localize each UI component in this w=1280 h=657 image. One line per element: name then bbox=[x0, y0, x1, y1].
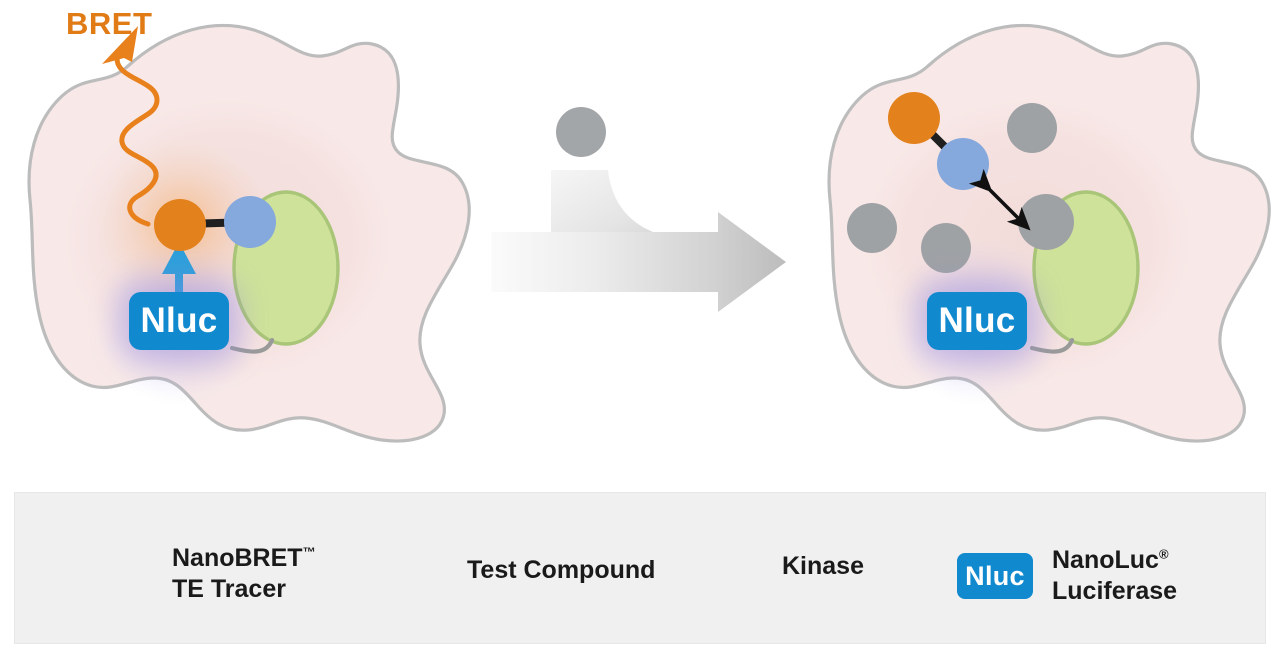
tracer-acceptor-left bbox=[224, 196, 276, 248]
trademark-icon: ™ bbox=[303, 545, 316, 560]
legend-compound-label: Test Compound bbox=[467, 555, 655, 586]
legend-tracer-line1: NanoBRET bbox=[172, 544, 303, 572]
legend-kinase-label: Kinase bbox=[782, 551, 864, 582]
test-compound bbox=[921, 223, 971, 273]
legend-item-test-compound: Test Compound bbox=[467, 555, 655, 586]
test-compound bbox=[1007, 103, 1057, 153]
legend-nanoluc-label: NanoLuc® Luciferase bbox=[1052, 545, 1177, 606]
bret-label: BRET bbox=[66, 6, 152, 42]
incoming-test-compound bbox=[556, 107, 606, 157]
legend-nluc-badge-icon: Nluc bbox=[957, 553, 1033, 599]
legend-nanoluc-line2: Luciferase bbox=[1052, 577, 1177, 605]
nluc-badge-right: Nluc bbox=[927, 292, 1027, 350]
test-compound bbox=[1018, 194, 1074, 250]
legend-nanoluc-line1: NanoLuc bbox=[1052, 546, 1159, 574]
registered-icon: ® bbox=[1159, 547, 1169, 562]
diagram-canvas: BRET Nluc Nluc NanoBRET™ TE Tracer Test … bbox=[0, 0, 1280, 657]
right-cell-panel bbox=[829, 26, 1269, 441]
legend-tracer-line2: TE Tracer bbox=[172, 575, 286, 603]
nluc-badge-left: Nluc bbox=[129, 292, 229, 350]
legend-tracer-label: NanoBRET™ TE Tracer bbox=[172, 543, 316, 604]
tracer-donor-right bbox=[888, 92, 940, 144]
legend-item-nanoluc: NanoLuc® Luciferase bbox=[1052, 545, 1177, 606]
legend-item-tracer: NanoBRET™ TE Tracer bbox=[172, 543, 316, 604]
tracer-donor-left bbox=[154, 199, 206, 251]
transition-arrow-group bbox=[491, 107, 786, 312]
tracer-acceptor-right bbox=[937, 138, 989, 190]
test-compound bbox=[847, 203, 897, 253]
left-cell-panel bbox=[29, 26, 469, 441]
legend-item-kinase: Kinase bbox=[782, 551, 864, 582]
